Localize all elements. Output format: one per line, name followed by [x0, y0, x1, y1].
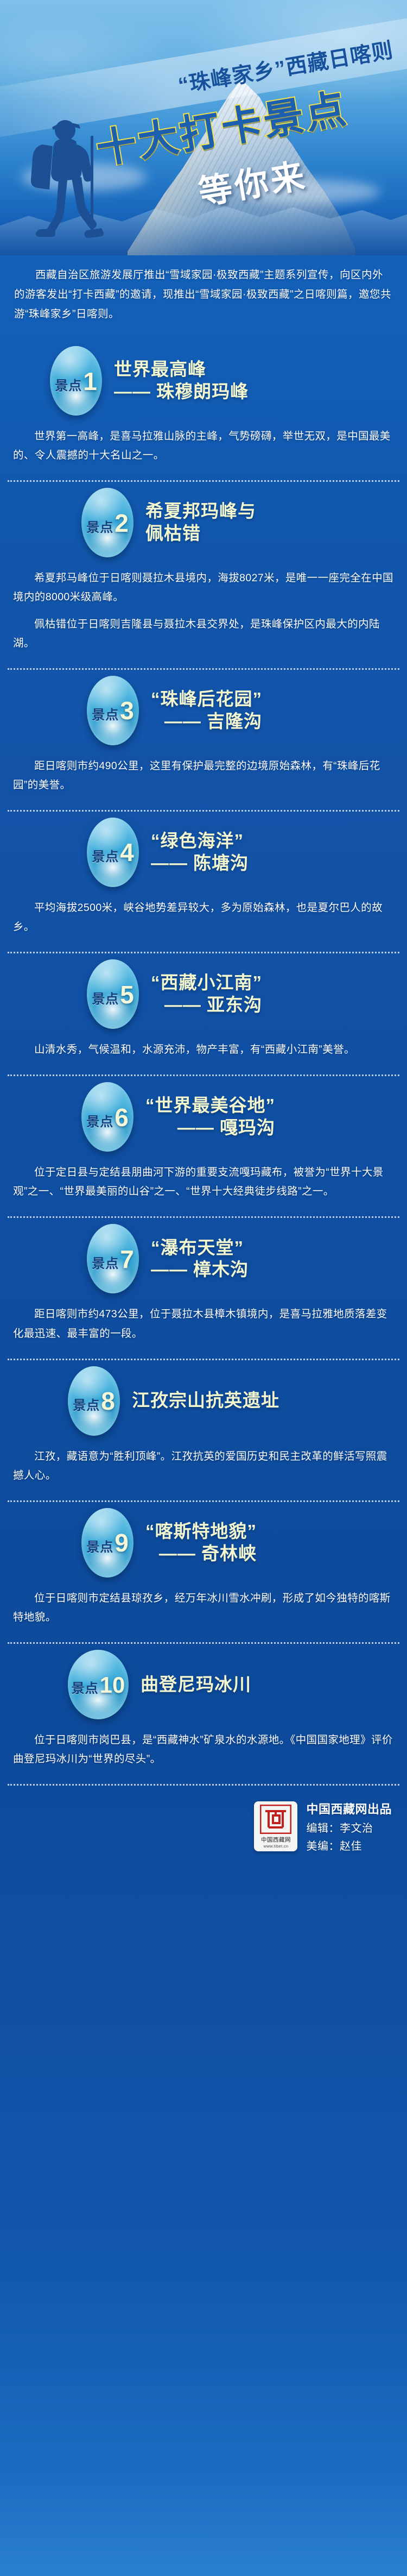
spot-title-line2: —— 珠穆朗玛峰 — [114, 381, 249, 403]
spot-section-5: 景点 5 “西藏小江南” —— 亚东沟 山清水秀，气候温和，水源充沛，物产丰富，… — [0, 953, 407, 1063]
seal-logo-icon — [260, 1805, 291, 1834]
logo-name: 中国西藏网 — [261, 1836, 291, 1844]
spot-header: 景点 2 希夏邦玛峰与 佩枯错 — [0, 482, 407, 563]
spot-title: “绿色海洋” —— 陈塘沟 — [151, 830, 249, 875]
spot-title-line2: —— 嘎玛沟 — [145, 1117, 275, 1139]
spot-title-line1: “绿色海洋” — [151, 830, 249, 852]
spot-body-text-2: 佩枯错位于日喀则吉隆县与聂拉木县交界处，是珠峰保护区内最大的内陆湖。 — [13, 615, 394, 653]
spot-body: 距日喀则市约490公里，这里有保护最完整的边境原始森林，有“珠峰后花园”的美誉。 — [0, 751, 407, 795]
badge-label: 景点 — [55, 375, 82, 394]
spot-body: 位于日喀则市岗巴县，是“西藏神水”矿泉水的水源地。《中国国家地理》评价曲登尼玛冰… — [0, 1725, 407, 1769]
spot-badge-4: 景点 4 — [87, 818, 139, 887]
spot-section-6: 景点 6 “世界最美谷地” —— 嘎玛沟 位于定日县与定结县朋曲河下游的重要支流… — [0, 1076, 407, 1204]
hero-banner: “珠峰家乡”西藏日喀则 十大打卡景点 等你来 — [0, 0, 407, 255]
spot-title-line1: “瀑布天堂” — [151, 1237, 249, 1259]
spot-body-text: 位于日喀则市岗巴县，是“西藏神水”矿泉水的水源地。《中国国家地理》评价曲登尼玛冰… — [13, 1731, 394, 1769]
spot-title-line1: “世界最美谷地” — [145, 1095, 275, 1117]
badge-number: 2 — [115, 512, 129, 535]
spot-body: 平均海拔2500米，峡谷地势差异较大，多为原始森林，也是夏尔巴人的故乡。 — [0, 893, 407, 937]
spot-body: 希夏邦马峰位于日喀则聂拉木县境内，海拔8027米，是唯一一座完全在中国境内的80… — [0, 563, 407, 652]
spot-title: “西藏小江南” —— 亚东沟 — [151, 972, 262, 1016]
spot-header: 景点 9 “喀斯特地貌” —— 奇林峡 — [0, 1502, 407, 1584]
spot-header: 景点 3 “珠峰后花园” —— 吉隆沟 — [0, 670, 407, 751]
spot-section-7: 景点 7 “瀑布天堂” —— 樟木沟 距日喀则市约473公里，位于聂拉木县樟木镇… — [0, 1218, 407, 1346]
spot-badge-8: 景点 8 — [68, 1366, 120, 1436]
spot-body-text: 位于日喀则市定结县琼孜乡，经万年冰川雪水冲刷，形成了如今独特的喀斯特地貌。 — [13, 1589, 394, 1627]
spot-header: 景点 4 “绿色海洋” —— 陈塘沟 — [0, 812, 407, 893]
spot-title-line2: —— 亚东沟 — [151, 994, 262, 1016]
spot-title: 世界最高峰 —— 珠穆朗玛峰 — [114, 359, 249, 403]
badge-number: 5 — [120, 984, 134, 1006]
badge-label: 景点 — [92, 1253, 119, 1272]
spot-section-10: 景点 10 曲登尼玛冰川 位于日喀则市岗巴县，是“西藏神水”矿泉水的水源地。《中… — [0, 1644, 407, 1772]
spot-title-line1: “喀斯特地貌” — [145, 1521, 257, 1543]
spot-body: 山清水秀，气候温和，水源充沛，物产丰富，有“西藏小江南”美誉。 — [0, 1035, 407, 1059]
badge-number: 4 — [120, 841, 134, 864]
spot-header: 景点 1 世界最高峰 —— 珠穆朗玛峰 — [0, 340, 407, 422]
spot-title-line2: —— 陈塘沟 — [151, 852, 249, 875]
infographic-page: “珠峰家乡”西藏日喀则 十大打卡景点 等你来 西藏自治区旅游发展厅推出“雪域家园… — [0, 0, 407, 2576]
spot-body: 距日喀则市约473公里，位于聂拉木县樟木镇境内，是喜马拉雅地质落差变化最迅速、最… — [0, 1299, 407, 1343]
spot-title-line1: 希夏邦玛峰与 — [145, 500, 256, 523]
spot-title-line1: “西藏小江南” — [151, 972, 262, 994]
spot-body-text: 世界第一高峰，是喜马拉雅山脉的主峰，气势磅礴，举世无双，是中国最美的、令人震撼的… — [13, 427, 394, 465]
badge-number: 3 — [120, 700, 134, 722]
spot-badge-1: 景点 1 — [50, 346, 102, 416]
badge-label: 景点 — [86, 1111, 113, 1130]
spot-header: 景点 6 “世界最美谷地” —— 嘎玛沟 — [0, 1076, 407, 1158]
spot-body: 江孜，藏语意为“胜利顶峰”。江孜抗英的爱国历史和民主改革的鲜活写照震撼人心。 — [0, 1442, 407, 1485]
badge-label: 景点 — [92, 846, 119, 865]
spot-section-1: 景点 1 世界最高峰 —— 珠穆朗玛峰 世界第一高峰，是喜马拉雅山脉的主峰，气势… — [0, 340, 407, 468]
spot-badge-9: 景点 9 — [81, 1508, 133, 1578]
spot-body-text: 距日喀则市约473公里，位于聂拉木县樟木镇境内，是喜马拉雅地质落差变化最迅速、最… — [13, 1305, 394, 1343]
spot-body: 位于定日县与定结县朋曲河下游的重要支流嘎玛藏布，被誉为“世界十大景观”之一、“世… — [0, 1158, 407, 1201]
spot-title: “珠峰后花园” —— 吉隆沟 — [151, 688, 262, 733]
spot-section-4: 景点 4 “绿色海洋” —— 陈塘沟 平均海拔2500米，峡谷地势差异较大，多为… — [0, 812, 407, 940]
badge-number: 7 — [120, 1248, 134, 1271]
spot-header: 景点 8 江孜宗山抗英遗址 — [0, 1360, 407, 1442]
spot-badge-7: 景点 7 — [87, 1224, 139, 1293]
badge-number: 10 — [100, 1675, 125, 1695]
spot-header: 景点 7 “瀑布天堂” —— 樟木沟 — [0, 1218, 407, 1299]
badge-number: 8 — [101, 1390, 115, 1412]
spot-body-text: 平均海拔2500米，峡谷地势差异较大，多为原始森林，也是夏尔巴人的故乡。 — [13, 899, 394, 937]
tibet-net-logo[interactable]: 中国西藏网 www.tibet.cn — [254, 1801, 297, 1851]
badge-number: 1 — [83, 370, 97, 393]
spot-section-8: 景点 8 江孜宗山抗英遗址 江孜，藏语意为“胜利顶峰”。江孜抗英的爱国历史和民主… — [0, 1360, 407, 1488]
badge-label: 景点 — [73, 1394, 100, 1413]
badge-label: 景点 — [86, 1536, 113, 1555]
spot-title: 曲登尼玛冰川 — [141, 1674, 251, 1696]
spot-section-2: 景点 2 希夏邦玛峰与 佩枯错 希夏邦马峰位于日喀则聂拉木县境内，海拔8027米… — [0, 482, 407, 656]
spot-title-line2: —— 奇林峡 — [145, 1543, 257, 1565]
badge-label: 景点 — [72, 1677, 99, 1697]
spot-title-line2: —— 樟木沟 — [151, 1259, 249, 1281]
spot-badge-10: 景点 10 — [68, 1650, 129, 1719]
spot-badge-5: 景点 5 — [87, 959, 139, 1029]
spot-title-line1: 江孜宗山抗英遗址 — [132, 1390, 279, 1412]
credits-block: 中国西藏网出品 编辑：李文治 美编：赵佳 — [306, 1800, 392, 1853]
spot-badge-2: 景点 2 — [81, 488, 133, 557]
spot-body-text: 距日喀则市约490公里，这里有保护最完整的边境原始森林，有“珠峰后花园”的美誉。 — [13, 757, 394, 795]
spot-section-3: 景点 3 “珠峰后花园” —— 吉隆沟 距日喀则市约490公里，这里有保护最完整… — [0, 670, 407, 798]
spot-body: 位于日喀则市定结县琼孜乡，经万年冰川雪水冲刷，形成了如今独特的喀斯特地貌。 — [0, 1584, 407, 1627]
badge-label: 景点 — [92, 704, 119, 723]
badge-label: 景点 — [86, 517, 113, 536]
spot-section-9: 景点 9 “喀斯特地貌” —— 奇林峡 位于日喀则市定结县琼孜乡，经万年冰川雪水… — [0, 1502, 407, 1630]
spot-title: 希夏邦玛峰与 佩枯错 — [145, 500, 256, 545]
spot-header: 景点 5 “西藏小江南” —— 亚东沟 — [0, 953, 407, 1035]
footer: 中国西藏网 www.tibet.cn 中国西藏网出品 编辑：李文治 美编：赵佳 — [0, 1786, 407, 1875]
badge-label: 景点 — [92, 988, 119, 1007]
spot-body-text: 希夏邦马峰位于日喀则聂拉木县境内，海拔8027米，是唯一一座完全在中国境内的80… — [13, 569, 394, 607]
spot-header: 景点 10 曲登尼玛冰川 — [0, 1644, 407, 1725]
spot-title-line2: 佩枯错 — [145, 523, 256, 545]
spot-title-line1: 曲登尼玛冰川 — [141, 1674, 251, 1696]
spot-badge-3: 景点 3 — [87, 676, 139, 745]
spot-title: 江孜宗山抗英遗址 — [132, 1390, 279, 1412]
designer-credit: 美编：赵佳 — [306, 1837, 392, 1853]
editor-credit: 编辑：李文治 — [306, 1819, 392, 1835]
logo-url: www.tibet.cn — [264, 1844, 289, 1849]
spot-title: “瀑布天堂” —— 樟木沟 — [151, 1237, 249, 1281]
spot-title-line1: “珠峰后花园” — [151, 688, 262, 711]
spot-badge-6: 景点 6 — [81, 1082, 133, 1152]
badge-number: 9 — [115, 1532, 129, 1554]
intro-section: 西藏自治区旅游发展厅推出“雪域家园·极致西藏”主题系列宣传，向区内外的游客发出“… — [0, 255, 407, 340]
spot-body-text: 山清水秀，气候温和，水源充沛，物产丰富，有“西藏小江南”美誉。 — [13, 1040, 394, 1059]
spot-body-text: 位于定日县与定结县朋曲河下游的重要支流嘎玛藏布，被誉为“世界十大景观”之一、“世… — [13, 1163, 394, 1201]
spot-body: 世界第一高峰，是喜马拉雅山脉的主峰，气势磅礴，举世无双，是中国最美的、令人震撼的… — [0, 422, 407, 465]
intro-paragraph: 西藏自治区旅游发展厅推出“雪域家园·极致西藏”主题系列宣传，向区内外的游客发出“… — [14, 265, 393, 324]
spot-title-line2: —— 吉隆沟 — [151, 711, 262, 733]
spot-title: “喀斯特地貌” —— 奇林峡 — [145, 1521, 257, 1565]
spot-title: “世界最美谷地” —— 嘎玛沟 — [145, 1095, 275, 1139]
spot-body-text: 江孜，藏语意为“胜利顶峰”。江孜抗英的爱国历史和民主改革的鲜活写照震撼人心。 — [13, 1447, 394, 1485]
badge-number: 6 — [115, 1107, 129, 1129]
produced-by: 中国西藏网出品 — [306, 1800, 392, 1817]
spot-title-line1: 世界最高峰 — [114, 359, 249, 381]
